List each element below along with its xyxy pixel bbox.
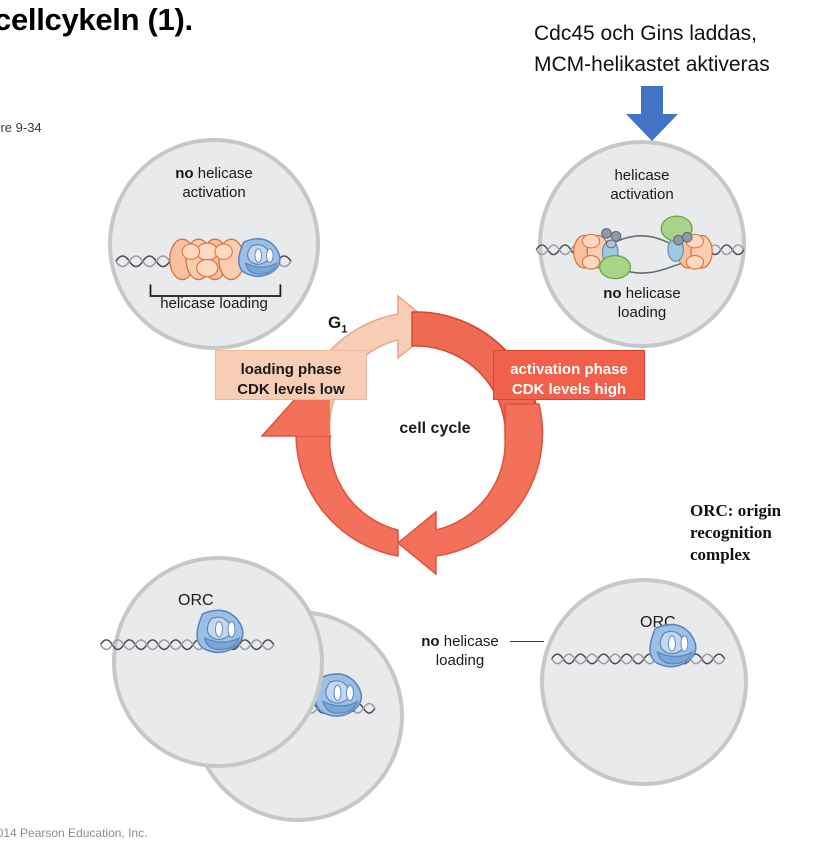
phase-label-m: M [313, 527, 327, 547]
phase-label-s: S [513, 313, 524, 333]
activation-phase-line-2: CDK levels high [512, 381, 626, 398]
phase-label-s-letter: S [513, 313, 524, 332]
page-title: cellcykeln (1). [0, 2, 193, 38]
loading-phase-box: loading phase CDK levels low [215, 350, 367, 400]
dna-strand-icon [552, 654, 725, 664]
orc-legend-line-1: ORC: origin [690, 500, 781, 522]
mcm-helicase-complex-icon [170, 239, 244, 279]
activation-phase-line-1: activation phase [510, 361, 628, 378]
orc-complex-icon [197, 610, 243, 652]
orc-complex-icon [316, 674, 362, 716]
leader-label-line2: loading [436, 652, 484, 669]
leader-line [510, 641, 544, 642]
copyright-notice: 2014 Pearson Education, Inc. [0, 826, 147, 840]
cell-bottom-left-front: ORC [112, 556, 324, 768]
annotation-line-1: Cdc45 och Gins laddas, [534, 18, 770, 49]
annotation-text: Cdc45 och Gins laddas, MCM-helikastet ak… [534, 18, 770, 80]
orc-complex-icon [650, 625, 696, 667]
annotation-line-2: MCM-helikastet aktiveras [534, 49, 770, 80]
dna-strand-icon [101, 640, 274, 650]
down-arrow-icon [623, 86, 681, 142]
phase-label-g2-letter: G [508, 525, 521, 544]
phase-label-g2-sub: 2 [521, 535, 527, 547]
phase-label-g1-sub: 1 [341, 323, 347, 335]
no-helicase-loading-label: no helicase loading [404, 632, 516, 670]
figure-caption: gure 9-34 [0, 120, 42, 135]
orc-legend-line-2: recognition [690, 522, 781, 544]
phase-label-g2: G2 [508, 525, 527, 547]
leader-label-rest: helicase [440, 633, 499, 650]
bottom-left-front-art [116, 560, 320, 764]
slide-canvas: cellcykeln (1). gure 9-34 ar . 2014 Pear… [0, 0, 830, 864]
loading-phase-line-2: CDK levels low [237, 381, 345, 398]
phase-label-g1: G1 [328, 313, 347, 335]
orc-legend: ORC: origin recognition complex [690, 500, 781, 566]
orc-legend-line-3: complex [690, 544, 781, 566]
phase-label-m-letter: M [313, 527, 327, 546]
leader-label-bold: no [421, 633, 439, 650]
activation-phase-box: activation phase CDK levels high [493, 350, 645, 400]
cell-cycle-center-label: cell cycle [370, 420, 500, 438]
phase-label-g1-letter: G [328, 313, 341, 332]
loading-phase-line-1: loading phase [241, 361, 342, 378]
